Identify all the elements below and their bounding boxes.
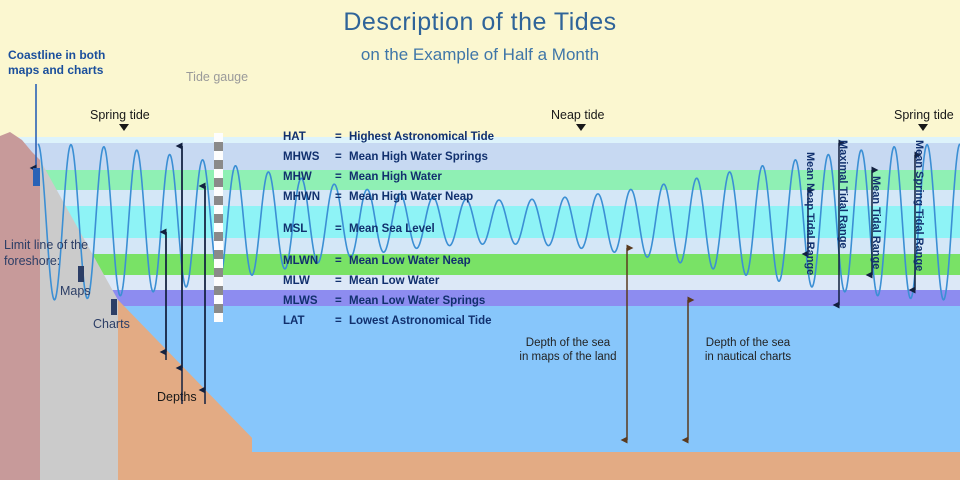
range-label-mean-neap: Mean Neap Tidal Range: [804, 152, 816, 275]
range-label-mean: Mean Tidal Range: [870, 176, 882, 269]
range-label-maximal: Maximal Tidal Range: [837, 140, 849, 249]
range-label-mean-spring: Mean Spring Tidal Range: [913, 140, 925, 271]
arrow-layer: [0, 0, 960, 480]
tide-diagram: Description of the Tides on the Example …: [0, 0, 960, 480]
foreshore-maps-tick: [78, 266, 84, 282]
foreshore-charts-tick: [111, 299, 117, 315]
coastline-tick: [33, 168, 40, 186]
